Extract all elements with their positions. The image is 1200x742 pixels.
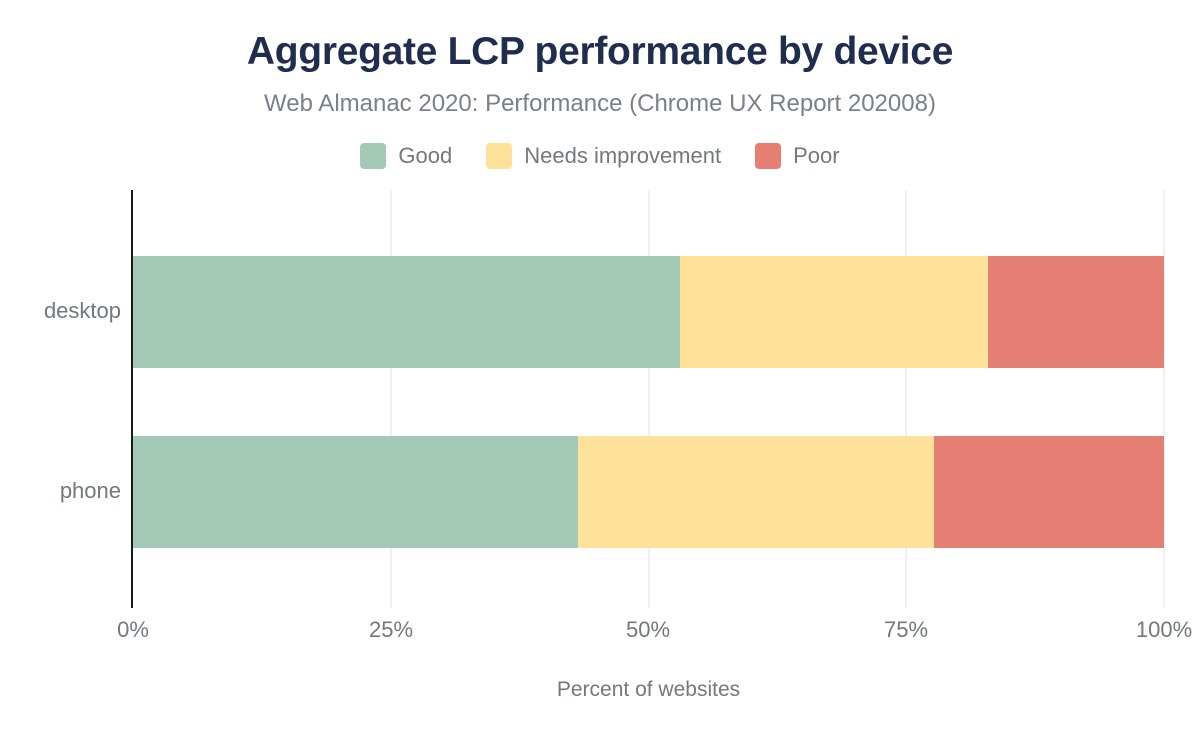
- bar-segment-poor[interactable]: [988, 256, 1164, 368]
- legend-label-poor: Poor: [793, 143, 839, 169]
- legend-swatch-poor: [755, 143, 781, 169]
- legend-swatch-good: [360, 143, 386, 169]
- y-tick-label-desktop: desktop: [44, 298, 121, 324]
- chart-subtitle: Web Almanac 2020: Performance (Chrome UX…: [0, 88, 1200, 120]
- x-tick-label-75: 75%: [884, 617, 928, 643]
- legend-item-needs-improvement[interactable]: Needs improvement: [486, 143, 721, 169]
- chart-title: Aggregate LCP performance by device: [0, 28, 1200, 76]
- x-tick-label-25: 25%: [369, 617, 413, 643]
- legend-swatch-needs-improvement: [486, 143, 512, 169]
- x-axis-title: Percent of websites: [133, 676, 1164, 704]
- plot-area: [133, 190, 1164, 608]
- table-row: [133, 436, 1164, 548]
- bar-segment-good[interactable]: [133, 256, 680, 368]
- legend-item-good[interactable]: Good: [360, 143, 452, 169]
- x-tick-label-100: 100%: [1136, 617, 1192, 643]
- x-tick-label-50: 50%: [626, 617, 670, 643]
- bar-segment-needs-improvement[interactable]: [680, 256, 987, 368]
- legend-label-needs-improvement: Needs improvement: [524, 143, 721, 169]
- bar-segment-poor[interactable]: [934, 436, 1164, 548]
- legend-label-good: Good: [398, 143, 452, 169]
- legend-item-poor[interactable]: Poor: [755, 143, 839, 169]
- chart-legend: Good Needs improvement Poor: [0, 140, 1200, 172]
- table-row: [133, 256, 1164, 368]
- bar-segment-needs-improvement[interactable]: [578, 436, 934, 548]
- bar-segment-good[interactable]: [133, 436, 578, 548]
- x-tick-label-0: 0%: [117, 617, 149, 643]
- y-tick-label-phone: phone: [60, 478, 121, 504]
